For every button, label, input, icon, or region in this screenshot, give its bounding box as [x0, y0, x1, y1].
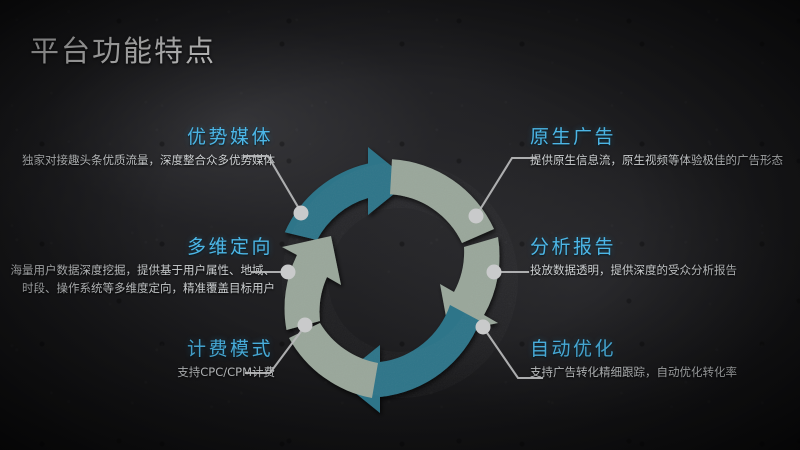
connector-line-native-advertising — [476, 158, 536, 216]
connector-dot-advantage-media — [294, 206, 309, 221]
connector-dot-analytics-report — [487, 265, 502, 280]
connector-dot-multi-dimensional-targeting — [281, 265, 296, 280]
slide-canvas: 平台功能特点 优势媒体 独家对接趣头条优质流量，深度整合众多优势媒体 多维定向 … — [0, 0, 800, 450]
connector-line-billing-model — [246, 326, 305, 373]
connector-dot-auto-optimization — [476, 320, 491, 335]
connector-dot-native-advertising — [469, 209, 484, 224]
connector-dot-billing-model — [298, 318, 313, 333]
connector-line-advantage-media — [244, 156, 301, 212]
connector-lines — [0, 0, 800, 450]
connector-line-auto-optimization — [483, 327, 542, 378]
